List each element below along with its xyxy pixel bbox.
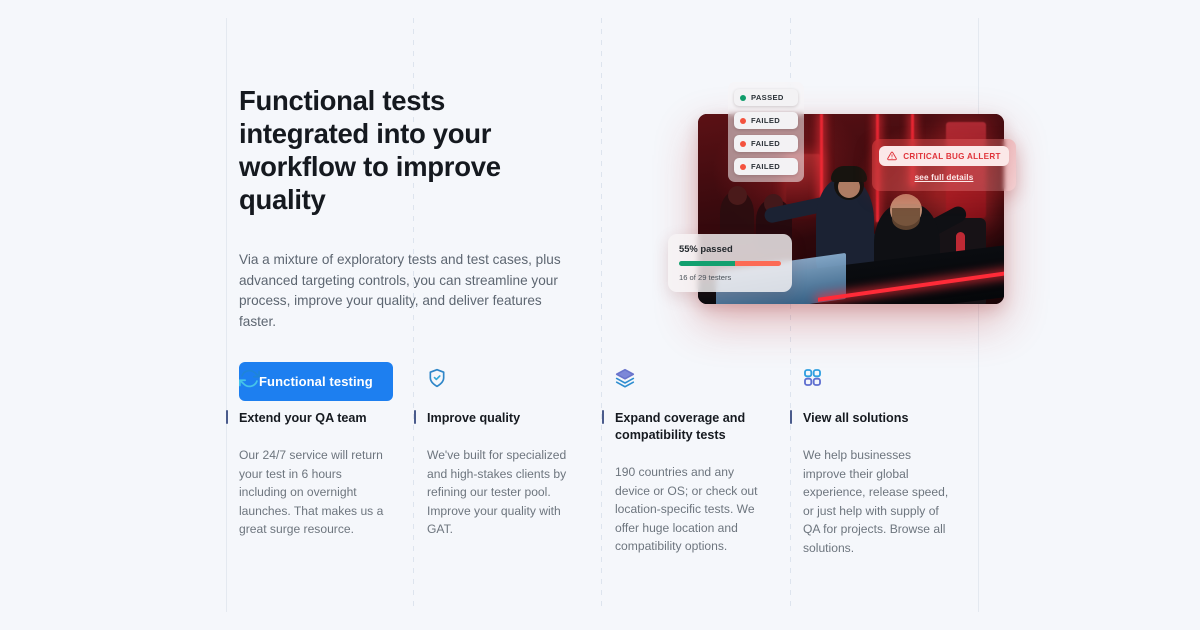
status-pill-label: FAILED bbox=[751, 162, 780, 171]
status-dot-icon bbox=[740, 118, 746, 124]
feature-title: Extend your QA team bbox=[239, 410, 392, 427]
layers-stack-icon bbox=[615, 368, 768, 390]
feature-card-improve-quality[interactable]: Improve quality We've built for speciali… bbox=[414, 368, 602, 558]
hero-visual: PASSED FAILED FAILED FAILED bbox=[668, 82, 1020, 332]
feature-body: 190 countries and any device or OS; or c… bbox=[615, 463, 768, 556]
hero-subcopy: Via a mixture of exploratory tests and t… bbox=[239, 250, 569, 332]
grid-squares-icon bbox=[803, 368, 956, 390]
progress-bar-passed-segment bbox=[679, 261, 735, 266]
feature-card-expand-coverage[interactable]: Expand coverage and compatibility tests … bbox=[602, 368, 790, 558]
progress-testers-label: 16 of 29 testers bbox=[679, 273, 781, 282]
status-pill[interactable]: FAILED bbox=[734, 158, 798, 175]
status-pill[interactable]: FAILED bbox=[734, 112, 798, 129]
critical-bug-alert-title: CRITICAL BUG ALLERT bbox=[903, 152, 1000, 161]
hero-text-block: Functional tests integrated into your wo… bbox=[239, 84, 579, 401]
feature-columns: Extend your QA team Our 24/7 service wil… bbox=[226, 368, 978, 558]
status-pill-label: FAILED bbox=[751, 116, 780, 125]
feature-title: Improve quality bbox=[427, 410, 580, 427]
progress-bar-failed-segment bbox=[735, 261, 781, 266]
shield-check-icon bbox=[427, 368, 580, 390]
status-dot-icon bbox=[740, 164, 746, 170]
feature-body: We help businesses improve their global … bbox=[803, 446, 956, 558]
refresh-cycle-icon bbox=[239, 368, 392, 390]
feature-accent-bar bbox=[602, 410, 604, 424]
critical-bug-alert-banner: CRITICAL BUG ALLERT bbox=[879, 146, 1009, 166]
feature-card-extend-qa-team[interactable]: Extend your QA team Our 24/7 service wil… bbox=[226, 368, 414, 558]
background-person-1-head bbox=[728, 186, 747, 205]
status-dot-icon bbox=[740, 95, 746, 101]
neon-strip-1 bbox=[820, 114, 823, 202]
feature-accent-bar bbox=[414, 410, 416, 424]
status-pill[interactable]: PASSED bbox=[734, 89, 798, 106]
test-status-list: PASSED FAILED FAILED FAILED bbox=[728, 82, 804, 182]
status-dot-icon bbox=[740, 141, 746, 147]
feature-accent-bar bbox=[790, 410, 792, 424]
person-1-beanie bbox=[831, 166, 867, 182]
see-full-details-link[interactable]: see full details bbox=[879, 173, 1009, 182]
feature-body: Our 24/7 service will return your test i… bbox=[239, 446, 392, 539]
critical-bug-alert-card: CRITICAL BUG ALLERT see full details bbox=[872, 139, 1016, 191]
feature-card-view-all-solutions[interactable]: View all solutions We help businesses im… bbox=[790, 368, 978, 558]
status-pill-label: FAILED bbox=[751, 139, 780, 148]
feature-accent-bar bbox=[226, 410, 228, 424]
progress-percent-label: 55% passed bbox=[679, 243, 781, 254]
feature-title: View all solutions bbox=[803, 410, 956, 427]
page-title: Functional tests integrated into your wo… bbox=[239, 84, 579, 216]
test-progress-card: 55% passed 16 of 29 testers bbox=[668, 234, 792, 292]
feature-body: We've built for specialized and high-sta… bbox=[427, 446, 580, 539]
warning-triangle-icon bbox=[887, 151, 897, 161]
page-root: Functional tests integrated into your wo… bbox=[0, 0, 1200, 630]
person-2-beard bbox=[892, 208, 920, 230]
progress-bar bbox=[679, 261, 781, 266]
status-pill-label: PASSED bbox=[751, 93, 784, 102]
feature-title: Expand coverage and compatibility tests bbox=[615, 410, 768, 444]
status-pill[interactable]: FAILED bbox=[734, 135, 798, 152]
